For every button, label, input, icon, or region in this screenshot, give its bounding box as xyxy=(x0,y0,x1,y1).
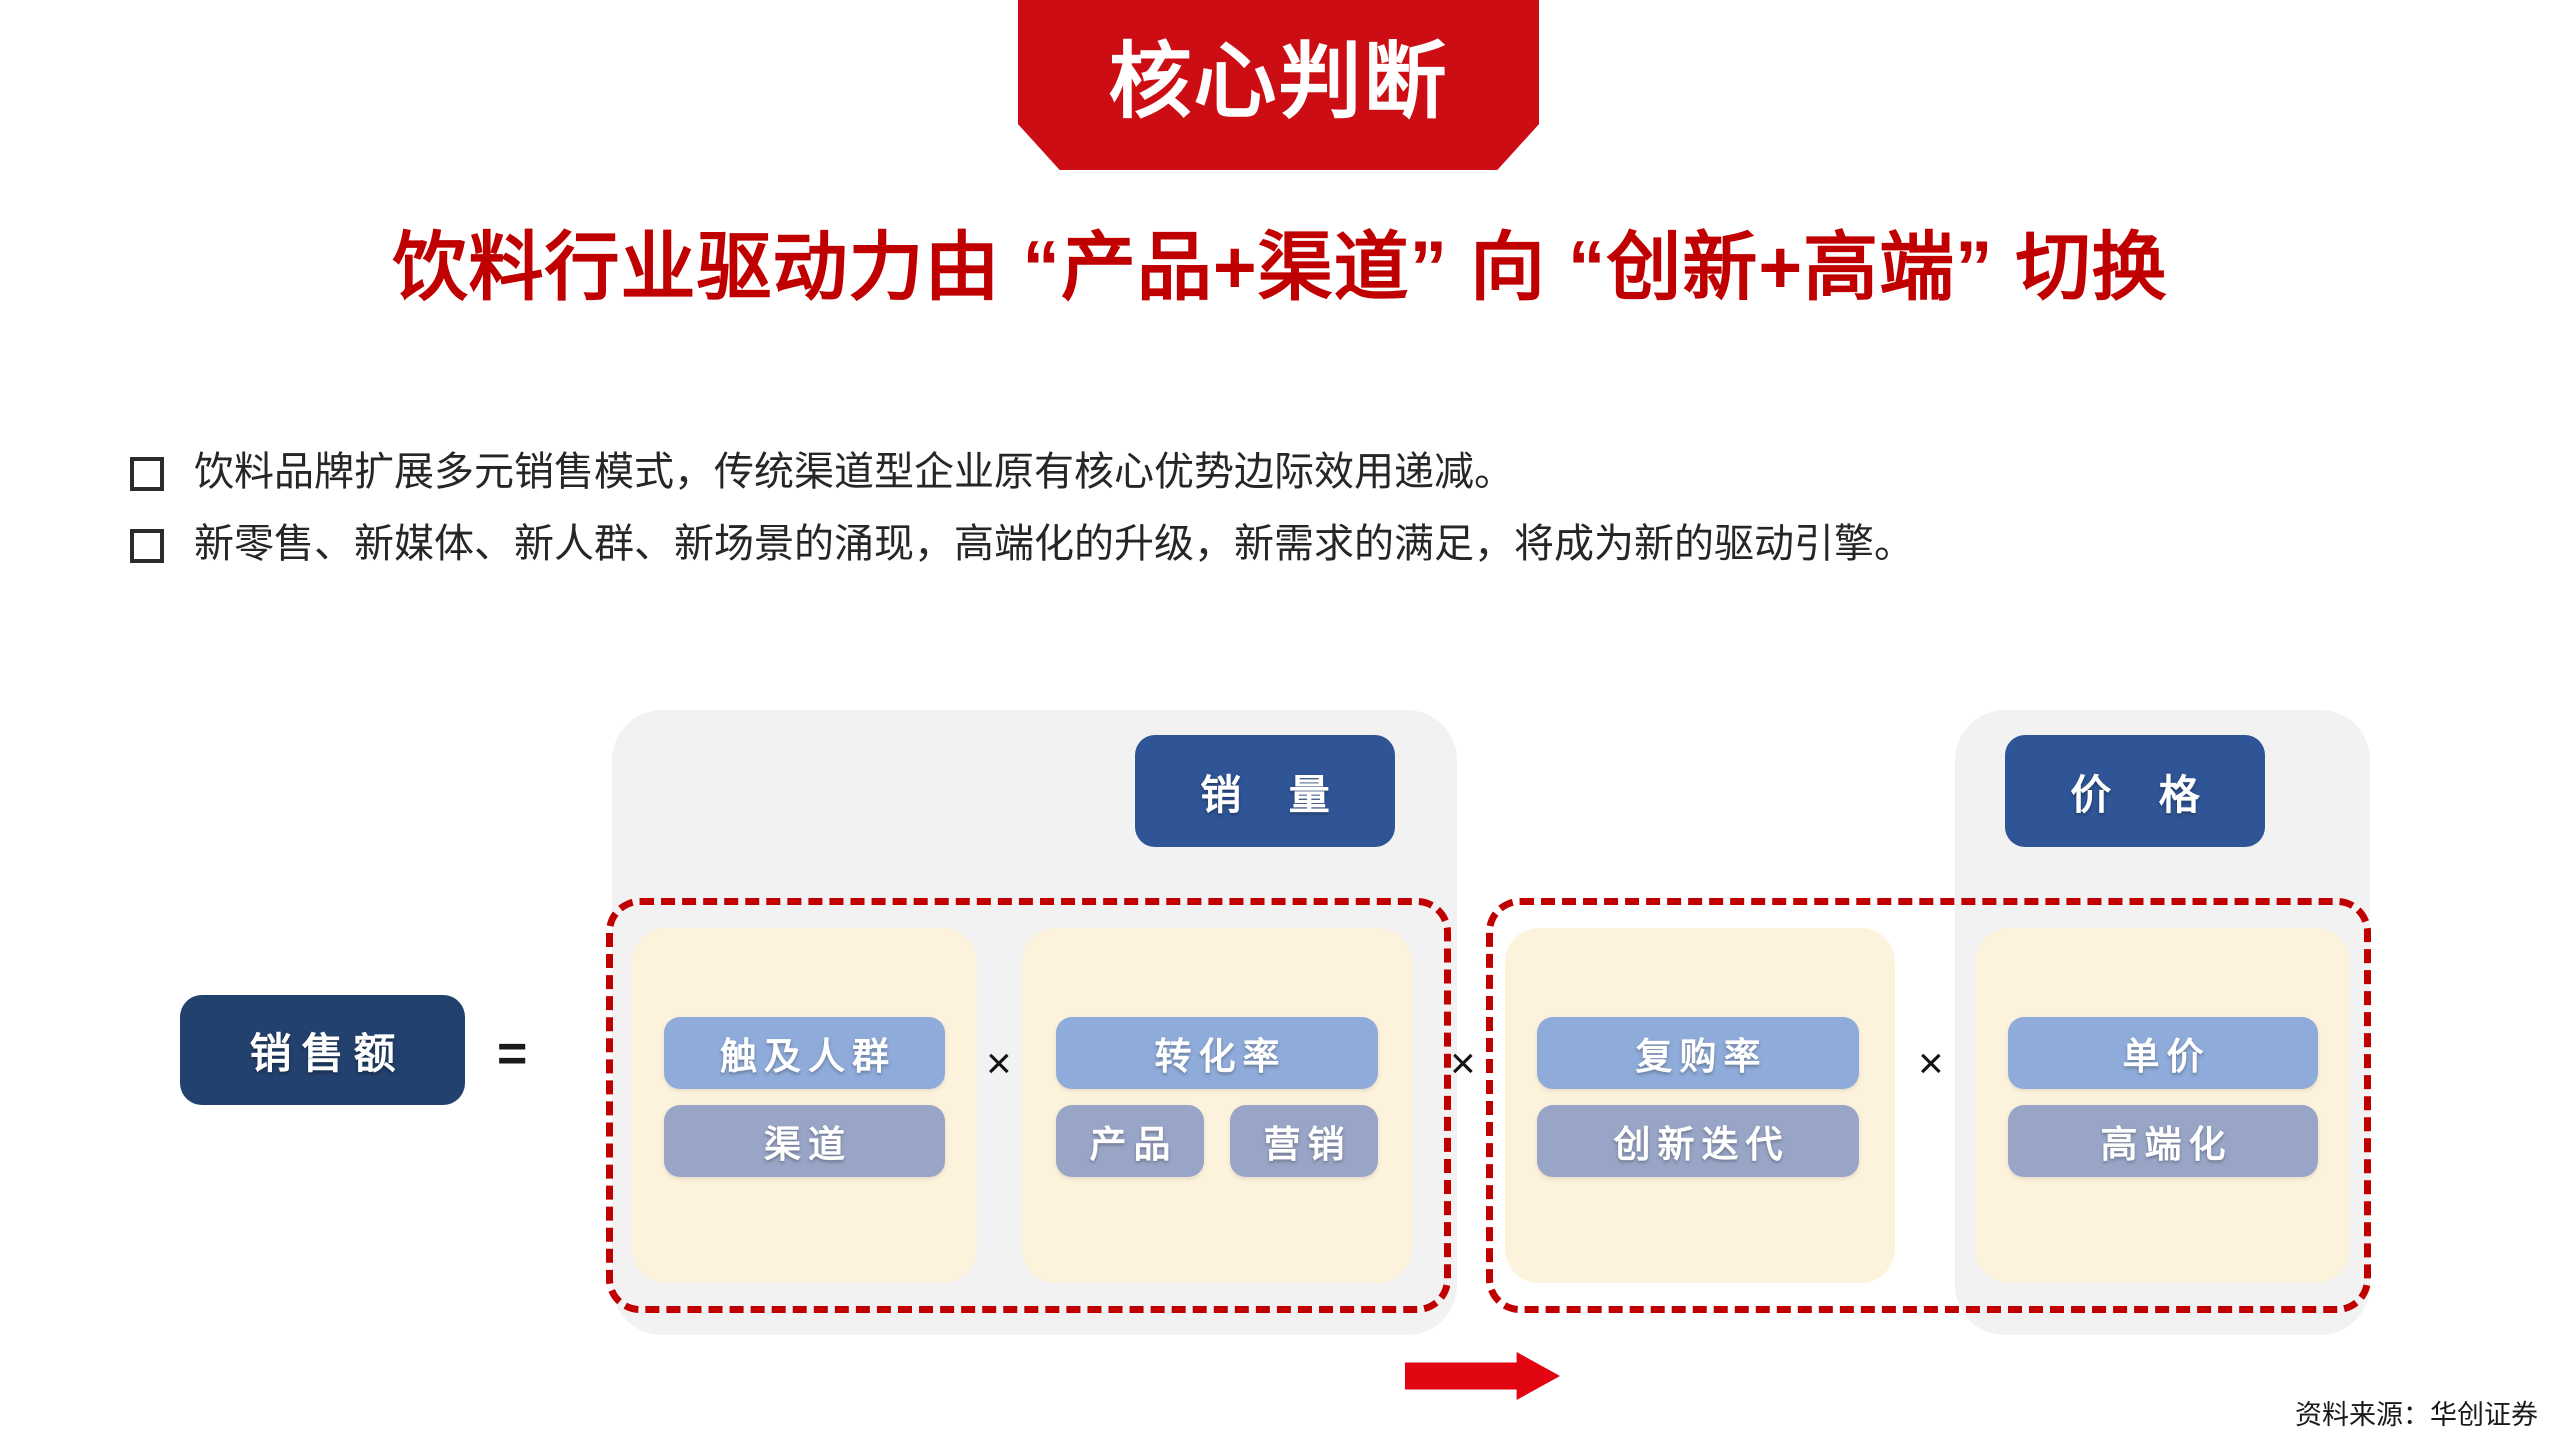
list-item-text: 新零售、新媒体、新人群、新场景的涌现，高端化的升级，新需求的满足，将成为新的驱动… xyxy=(194,520,1914,568)
volume-header-label: 销 量 xyxy=(1182,761,1347,821)
list-item: 饮料品牌扩展多元销售模式，传统渠道型企业原有核心优势边际效用递减。 xyxy=(130,448,2430,500)
sales-amount-box: 销售额 xyxy=(180,995,465,1105)
list-item: 新零售、新媒体、新人群、新场景的涌现，高端化的升级，新需求的满足，将成为新的驱动… xyxy=(130,520,2430,572)
source-note: 资料来源：华创证券 xyxy=(2295,1393,2538,1432)
page-headline: 饮料行业驱动力由 “产品+渠道” 向 “创新+高端” 切换 xyxy=(0,225,2560,309)
highlight-frame-new-drivers xyxy=(1486,898,2371,1313)
highlight-frame-old-drivers xyxy=(606,898,1451,1313)
equals-sign: = xyxy=(497,1024,527,1084)
bullet-list: 饮料品牌扩展多元销售模式，传统渠道型企业原有核心优势边际效用递减。 新零售、新媒… xyxy=(130,448,2430,592)
title-banner: 核心判断 xyxy=(1018,0,1539,170)
hollow-square-icon xyxy=(130,457,164,491)
price-header-label: 价 格 xyxy=(2052,761,2217,821)
price-header-box: 价 格 xyxy=(2005,735,2265,847)
title-banner-label: 核心判断 xyxy=(1109,40,1449,123)
volume-header-box: 销 量 xyxy=(1135,735,1395,847)
sales-formula-diagram: 销售额 = 销 量 价 格 触及人群 渠道 转化率 产品 营销 复购率 创新迭代… xyxy=(0,690,2560,1390)
hollow-square-icon xyxy=(130,529,164,563)
multiply-sign-icon: × xyxy=(1450,1042,1476,1086)
list-item-text: 饮料品牌扩展多元销售模式，传统渠道型企业原有核心优势边际效用递减。 xyxy=(194,448,1514,496)
sales-amount-label: 销售额 xyxy=(239,1020,405,1081)
